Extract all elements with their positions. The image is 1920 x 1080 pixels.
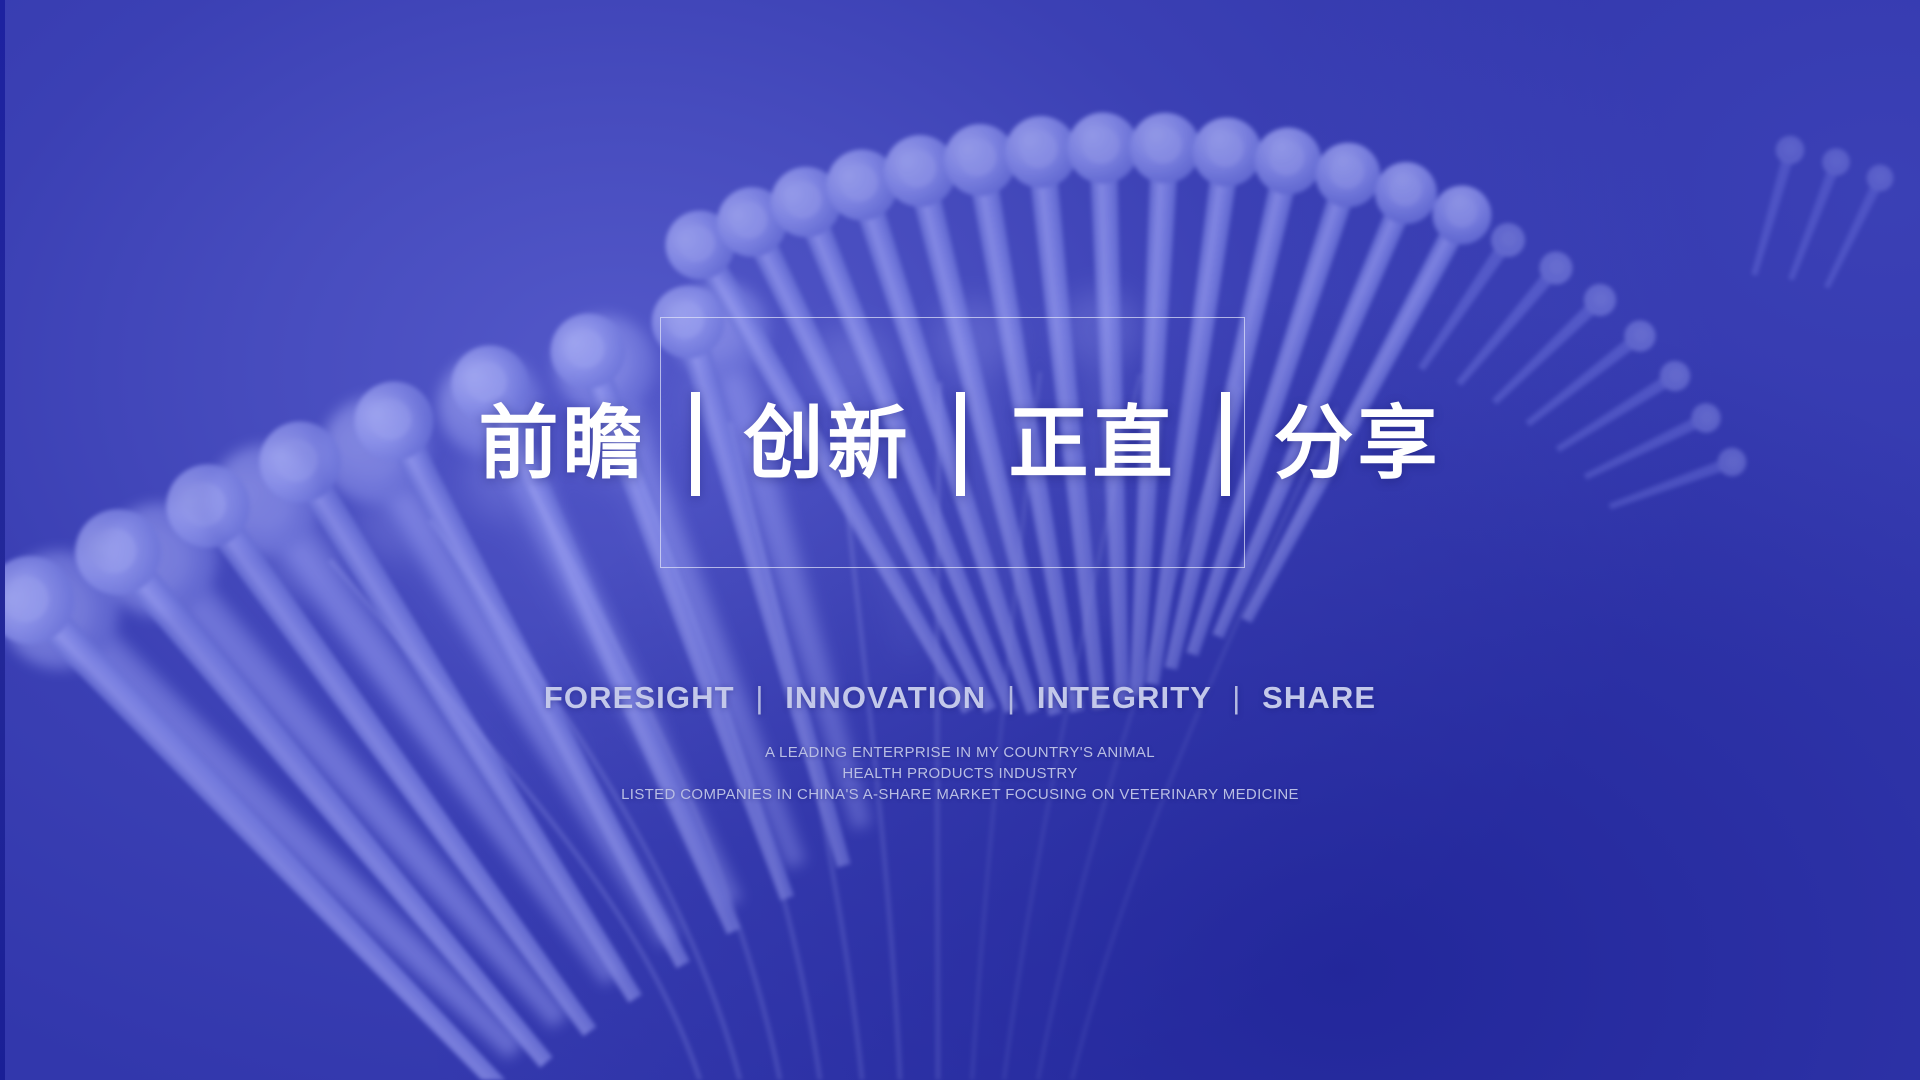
caption-line-3: LISTED COMPANIES IN CHINA'S A-SHARE MARK… bbox=[0, 784, 1920, 805]
tagline-word-1: FORESIGHT bbox=[544, 680, 735, 715]
caption-block: A LEADING ENTERPRISE IN MY COUNTRY'S ANI… bbox=[0, 742, 1920, 805]
tagline-separator-1: | bbox=[744, 680, 775, 716]
caption-line-1: A LEADING ENTERPRISE IN MY COUNTRY'S ANI… bbox=[0, 742, 1920, 763]
left-edge-stripe bbox=[0, 0, 5, 1080]
tagline-separator-3: | bbox=[1221, 680, 1252, 716]
tagline-word-3: INTEGRITY bbox=[1037, 680, 1212, 715]
headline-frame bbox=[660, 317, 1245, 568]
tagline-word-4: SHARE bbox=[1262, 680, 1376, 715]
tagline-word-2: INNOVATION bbox=[785, 680, 986, 715]
tagline-separator-2: | bbox=[996, 680, 1027, 716]
caption-line-2: HEALTH PRODUCTS INDUSTRY bbox=[0, 763, 1920, 784]
slide-canvas: 前瞻 创新 正直 分享 FORESIGHT | INNOVATION | INT… bbox=[0, 0, 1920, 1080]
tagline: FORESIGHT | INNOVATION | INTEGRITY | SHA… bbox=[0, 680, 1920, 716]
